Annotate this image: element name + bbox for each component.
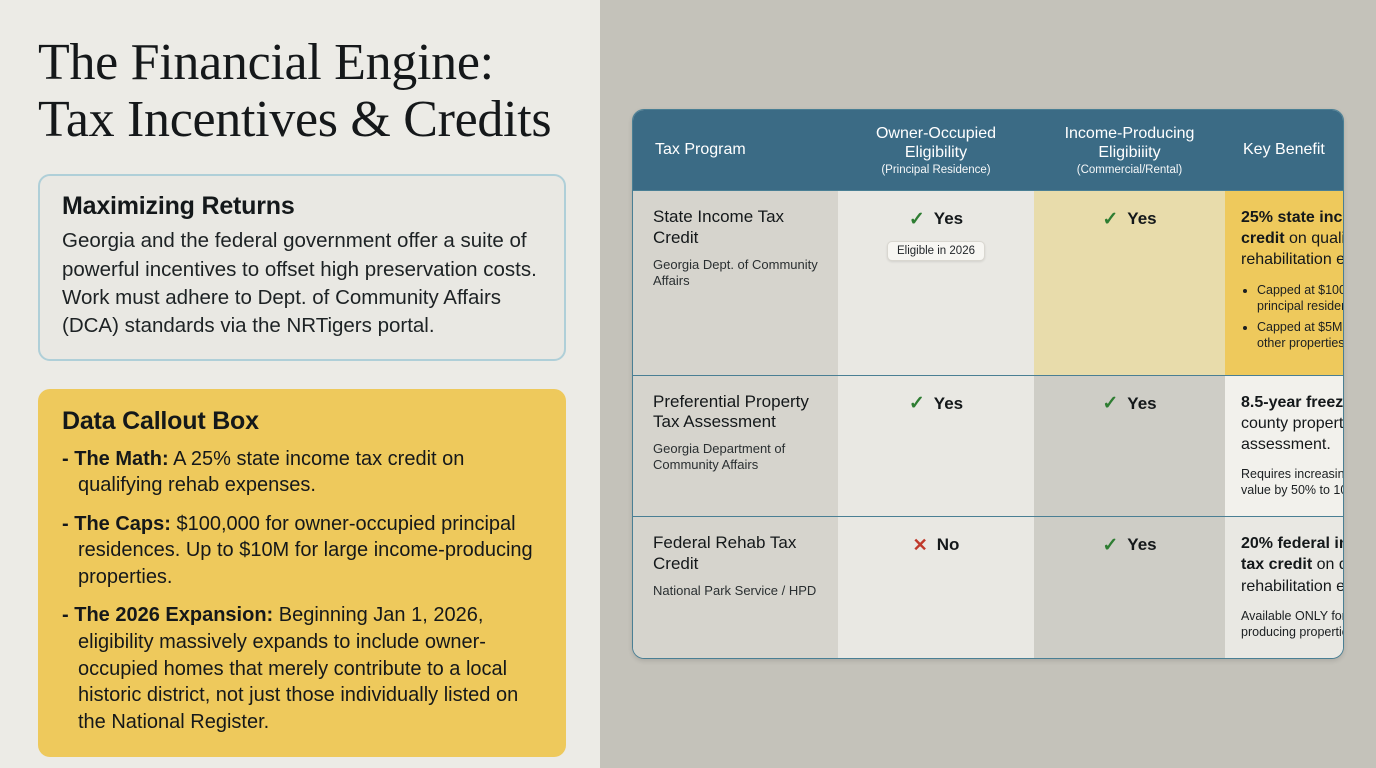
cross-icon: ✕: [913, 536, 928, 554]
program-agency: Georgia Dept. of Community Affairs: [653, 257, 826, 290]
status-badge: ✓ Yes: [909, 394, 963, 414]
cell-key-benefit: 20% federal income tax credit on qualifi…: [1225, 517, 1344, 658]
program-name: State Income Tax Credit: [653, 207, 826, 248]
cell-income-eligibility: ✓ Yes: [1034, 517, 1225, 658]
benefit-headline: 25% state income tax credit on qualifyin…: [1241, 207, 1344, 270]
column-header-income-producing: Income-Producing Eligibiiity (Commercial…: [1034, 110, 1225, 191]
header-label: Income-Producing Eligibiiity: [1042, 124, 1217, 162]
benefit-headline: 20% federal income tax credit on qualifi…: [1241, 533, 1344, 596]
cell-owner-eligibility: ✓ Yes Eligible in 2026: [838, 191, 1034, 375]
status-badge: ✓ Yes: [909, 209, 963, 229]
column-header-key-benefit: Key Benefit: [1225, 110, 1344, 191]
cell-income-eligibility: ✓ Yes: [1034, 375, 1225, 517]
check-icon: ✓: [1102, 210, 1118, 229]
callout-list: - The Math: A 25% state income tax credi…: [62, 446, 544, 736]
list-item: Capped at $100,000 for principal residen…: [1257, 282, 1344, 315]
status-label: Yes: [1127, 535, 1156, 555]
slide-root: The Financial Engine: Tax Incentives & C…: [0, 0, 1376, 768]
list-item: Capped at $5M - $10M for other propertie…: [1257, 319, 1344, 352]
cell-key-benefit: 8.5-year freeze on the county property t…: [1225, 375, 1344, 517]
header-sublabel: (Commercial/Rental): [1042, 164, 1217, 176]
cell-program: Preferential Property Tax Assessment Geo…: [633, 375, 838, 517]
page-title-line-2: Tax Incentives & Credits: [38, 91, 566, 148]
status-label: Yes: [934, 209, 963, 229]
table-header-row: Tax Program Owner-Occupied Eligibility (…: [633, 110, 1344, 191]
cell-key-benefit: 25% state income tax credit on qualifyin…: [1225, 191, 1344, 375]
benefit-headline: 8.5-year freeze on the county property t…: [1241, 392, 1344, 455]
check-icon: ✓: [1102, 536, 1118, 555]
header-label: Key Benefit: [1243, 140, 1344, 159]
callout-label-0: The Math:: [74, 448, 168, 470]
maximizing-returns-card: Maximizing Returns Georgia and the feder…: [38, 174, 566, 360]
callout-label-1: The Caps:: [74, 513, 171, 535]
status-label: Yes: [1127, 394, 1156, 414]
program-name: Preferential Property Tax Assessment: [653, 392, 826, 433]
page-title: The Financial Engine: Tax Incentives & C…: [38, 34, 566, 148]
right-panel: Tax Program Owner-Occupied Eligibility (…: [600, 0, 1376, 768]
info-card-heading: Maximizing Returns: [62, 192, 544, 221]
cell-program: State Income Tax Credit Georgia Dept. of…: [633, 191, 838, 375]
check-icon: ✓: [909, 210, 925, 229]
header-label: Owner-Occupied Eligibility: [846, 124, 1026, 162]
eligibility-note-badge: Eligible in 2026: [887, 241, 985, 261]
table-head: Tax Program Owner-Occupied Eligibility (…: [633, 110, 1344, 191]
callout-heading: Data Callout Box: [62, 407, 544, 436]
program-agency: Georgia Department of Community Affairs: [653, 441, 826, 474]
info-card-body: Georgia and the federal government offer…: [62, 227, 544, 340]
header-sublabel: (Principal Residence): [846, 164, 1026, 176]
cell-owner-eligibility: ✓ Yes: [838, 375, 1034, 517]
table-row: Preferential Property Tax Assessment Geo…: [633, 375, 1344, 517]
column-header-tax-program: Tax Program: [633, 110, 838, 191]
table-row: State Income Tax Credit Georgia Dept. of…: [633, 191, 1344, 375]
callout-label-2: The 2026 Expansion:: [74, 604, 273, 626]
header-label: Tax Program: [655, 140, 830, 159]
column-header-owner-occupied: Owner-Occupied Eligibility (Principal Re…: [838, 110, 1034, 191]
left-panel: The Financial Engine: Tax Incentives & C…: [0, 0, 600, 768]
callout-dash-2: -: [62, 604, 69, 626]
list-item: - The 2026 Expansion: Beginning Jan 1, 2…: [62, 602, 544, 735]
benefit-strong: 8.5-year freeze: [1241, 394, 1344, 411]
data-callout-box: Data Callout Box - The Math: A 25% state…: [38, 389, 566, 758]
table-body: State Income Tax Credit Georgia Dept. of…: [633, 191, 1344, 658]
list-item: - The Math: A 25% state income tax credi…: [62, 446, 544, 499]
status-badge: ✕ No: [913, 535, 960, 555]
status-label: No: [937, 535, 960, 555]
callout-dash-0: -: [62, 448, 69, 470]
table-row: Federal Rehab Tax Credit National Park S…: [633, 517, 1344, 658]
check-icon: ✓: [909, 394, 925, 413]
page-title-line-1: The Financial Engine:: [38, 34, 494, 91]
status-badge: ✓ Yes: [1102, 394, 1156, 414]
cell-owner-eligibility: ✕ No: [838, 517, 1034, 658]
status-badge: ✓ Yes: [1102, 209, 1156, 229]
benefit-note: Available ONLY for income-producing prop…: [1241, 608, 1344, 641]
list-item: - The Caps: $100,000 for owner-occupied …: [62, 511, 544, 591]
program-agency: National Park Service / HPD: [653, 583, 826, 599]
benefit-note: Requires increasing fair market value by…: [1241, 466, 1344, 499]
callout-dash-1: -: [62, 513, 69, 535]
benefit-bullets: Capped at $100,000 for principal residen…: [1241, 282, 1344, 352]
cell-program: Federal Rehab Tax Credit National Park S…: [633, 517, 838, 658]
status-label: Yes: [1127, 209, 1156, 229]
cell-income-eligibility: ✓ Yes: [1034, 191, 1225, 375]
check-icon: ✓: [1102, 394, 1118, 413]
tax-incentives-table: Tax Program Owner-Occupied Eligibility (…: [632, 109, 1344, 659]
status-label: Yes: [934, 394, 963, 414]
program-name: Federal Rehab Tax Credit: [653, 533, 826, 574]
status-badge: ✓ Yes: [1102, 535, 1156, 555]
